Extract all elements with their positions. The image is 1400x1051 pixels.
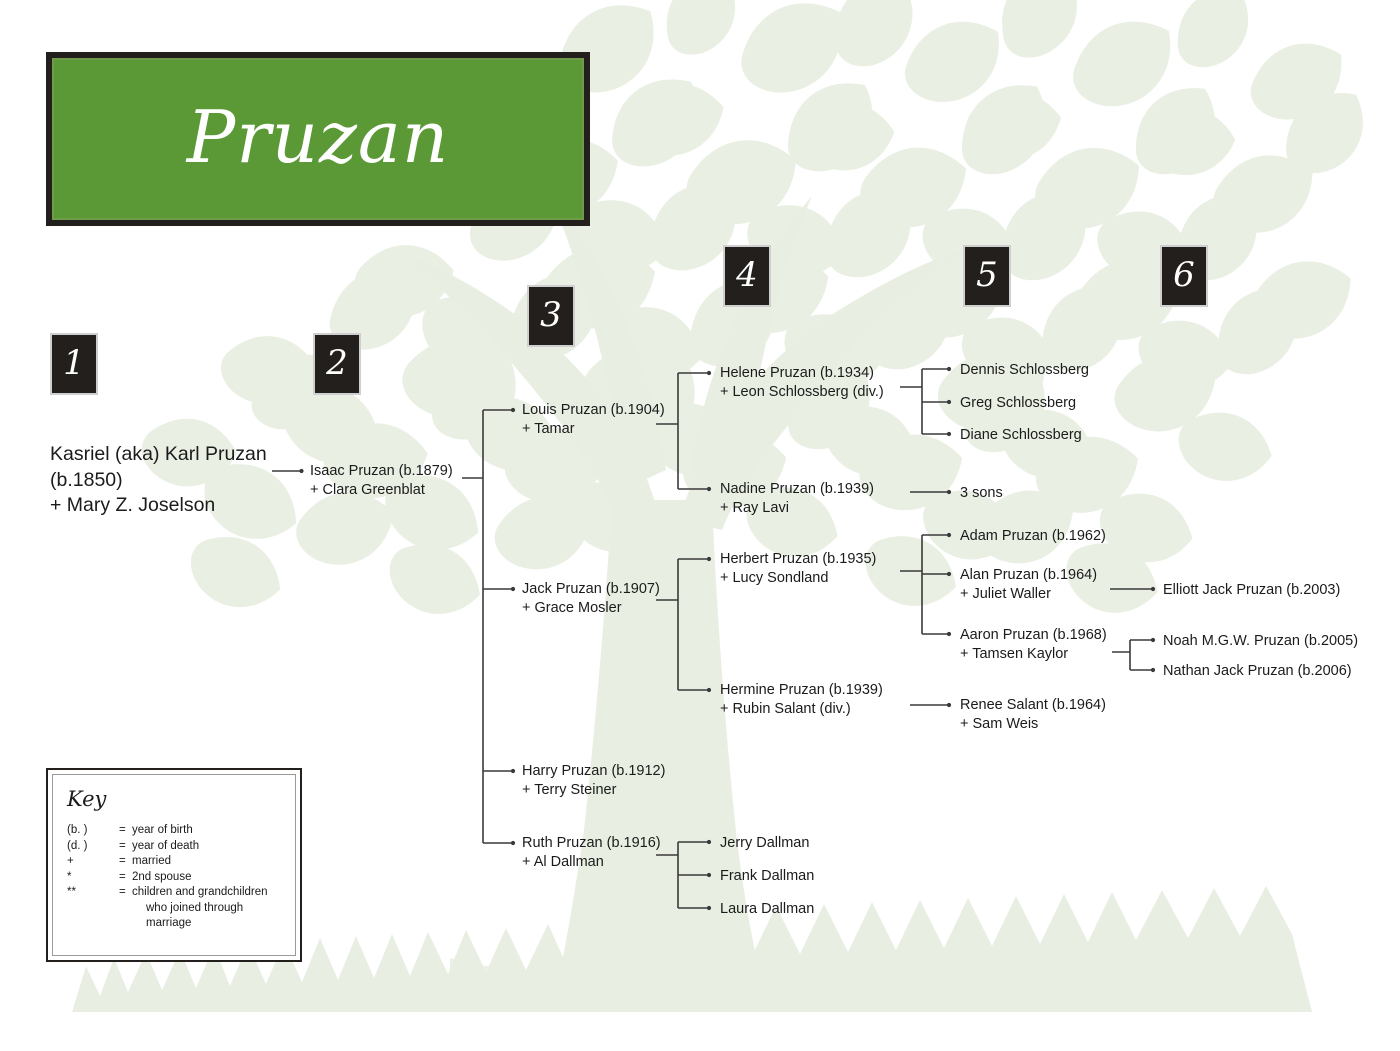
title-banner: Pruzan [46, 52, 590, 226]
person-name: Helene Pruzan (b.1934) [720, 364, 884, 383]
key-row-birth: (b. ) = year of birth [67, 823, 281, 839]
person-node-nadine-pruzan[interactable]: Nadine Pruzan (b.1939) + Ray Lavi [720, 480, 874, 518]
key-row-married-in: ** = children and grandchildren who join… [67, 885, 281, 932]
key-definition: year of birth [132, 823, 281, 839]
key-equals: = [119, 870, 132, 886]
generation-badge-4-label: 4 [736, 258, 758, 292]
person-name: Noah M.G.W. Pruzan (b.2005) [1163, 632, 1358, 651]
person-name: Laura Dallman [720, 900, 814, 919]
key-equals: = [119, 885, 132, 932]
person-node-ruth-pruzan[interactable]: Ruth Pruzan (b.1916) + Al Dallman [522, 834, 661, 872]
person-spouse: + Sam Weis [960, 715, 1106, 734]
key-equals: = [119, 839, 132, 855]
generation-badge-6-label: 6 [1173, 258, 1195, 292]
person-node-herbert-pruzan[interactable]: Herbert Pruzan (b.1935) + Lucy Sondland [720, 550, 876, 588]
key-legend-inner: Key (b. ) = year of birth (d. ) = year o… [52, 774, 296, 956]
person-name: Nathan Jack Pruzan (b.2006) [1163, 662, 1352, 681]
generation-badge-3: 3 [527, 285, 575, 347]
person-spouse: + Mary Z. Joselson [50, 493, 267, 519]
person-spouse: + Al Dallman [522, 853, 661, 872]
generation-badge-2: 2 [313, 333, 361, 395]
generation-badge-5-label: 5 [976, 258, 998, 292]
person-node-adam-pruzan[interactable]: Adam Pruzan (b.1962) [960, 527, 1106, 546]
person-spouse: + Terry Steiner [522, 781, 665, 800]
person-name: Hermine Pruzan (b.1939) [720, 681, 883, 700]
key-row-second-spouse: * = 2nd spouse [67, 870, 281, 886]
person-spouse: + Lucy Sondland [720, 569, 876, 588]
person-name: Isaac Pruzan (b.1879) [310, 462, 453, 481]
person-name: Alan Pruzan (b.1964) [960, 566, 1097, 585]
person-name: Dennis Schlossberg [960, 361, 1089, 380]
generation-badge-6: 6 [1160, 245, 1208, 307]
person-node-dennis-schlossberg[interactable]: Dennis Schlossberg [960, 361, 1089, 380]
person-name: 3 sons [960, 484, 1003, 503]
person-node-nathan-jack-pruzan[interactable]: Nathan Jack Pruzan (b.2006) [1163, 662, 1352, 681]
key-equals: = [119, 823, 132, 839]
person-node-diane-schlossberg[interactable]: Diane Schlossberg [960, 426, 1082, 445]
person-node-aaron-pruzan[interactable]: Aaron Pruzan (b.1968) + Tamsen Kaylor [960, 626, 1107, 664]
person-node-jerry-dallman[interactable]: Jerry Dallman [720, 834, 809, 853]
generation-badge-4: 4 [723, 245, 771, 307]
person-spouse: + Leon Schlossberg (div.) [720, 383, 884, 402]
person-name: Diane Schlossberg [960, 426, 1082, 445]
person-spouse: + Tamar [522, 420, 665, 439]
person-spouse: + Rubin Salant (div.) [720, 700, 883, 719]
person-name: Aaron Pruzan (b.1968) [960, 626, 1107, 645]
generation-badge-2-label: 2 [326, 346, 348, 380]
key-symbol: * [67, 870, 119, 886]
person-spouse: + Clara Greenblat [310, 481, 453, 500]
key-definition-continued: who joined through marriage [132, 901, 281, 932]
person-name: Ruth Pruzan (b.1916) [522, 834, 661, 853]
family-tree-poster: Pruzan 1 2 3 4 5 6 Kasriel (aka) Karl Pr… [0, 0, 1400, 1051]
key-equals: = [119, 854, 132, 870]
person-node-kasriel-pruzan[interactable]: Kasriel (aka) Karl Pruzan (b.1850) + Mar… [50, 442, 267, 519]
person-node-jack-pruzan[interactable]: Jack Pruzan (b.1907) + Grace Mosler [522, 580, 660, 618]
key-definition: married [132, 854, 281, 870]
key-row-married: + = married [67, 854, 281, 870]
key-title: Key [67, 787, 281, 811]
key-symbol: (b. ) [67, 823, 119, 839]
generation-badge-3-label: 3 [540, 298, 562, 332]
key-symbol: (d. ) [67, 839, 119, 855]
key-definition: 2nd spouse [132, 870, 281, 886]
person-node-three-sons[interactable]: 3 sons [960, 484, 1003, 503]
person-name: Jerry Dallman [720, 834, 809, 853]
person-name: Herbert Pruzan (b.1935) [720, 550, 876, 569]
page-title: Pruzan [187, 95, 449, 179]
key-definition: year of death [132, 839, 281, 855]
person-name: Jack Pruzan (b.1907) [522, 580, 660, 599]
person-node-elliott-jack-pruzan[interactable]: Elliott Jack Pruzan (b.2003) [1163, 581, 1340, 600]
key-legend-box: Key (b. ) = year of birth (d. ) = year o… [46, 768, 302, 962]
person-name: Greg Schlossberg [960, 394, 1076, 413]
key-symbol: ** [67, 885, 119, 932]
key-definition: children and grandchildren [132, 886, 268, 898]
person-node-helene-pruzan[interactable]: Helene Pruzan (b.1934) + Leon Schlossber… [720, 364, 884, 402]
person-node-isaac-pruzan[interactable]: Isaac Pruzan (b.1879) + Clara Greenblat [310, 462, 453, 500]
generation-badge-1-label: 1 [63, 346, 85, 380]
key-symbol: + [67, 854, 119, 870]
person-node-louis-pruzan[interactable]: Louis Pruzan (b.1904) + Tamar [522, 401, 665, 439]
title-banner-inner: Pruzan [52, 58, 584, 220]
person-node-harry-pruzan[interactable]: Harry Pruzan (b.1912) + Terry Steiner [522, 762, 665, 800]
generation-badge-5: 5 [963, 245, 1011, 307]
person-node-renee-salant[interactable]: Renee Salant (b.1964) + Sam Weis [960, 696, 1106, 734]
person-node-greg-schlossberg[interactable]: Greg Schlossberg [960, 394, 1076, 413]
person-name: Kasriel (aka) Karl Pruzan [50, 442, 267, 468]
person-birth: (b.1850) [50, 468, 267, 494]
person-spouse: + Ray Lavi [720, 499, 874, 518]
person-node-alan-pruzan[interactable]: Alan Pruzan (b.1964) + Juliet Waller [960, 566, 1097, 604]
person-name: Harry Pruzan (b.1912) [522, 762, 665, 781]
person-node-laura-dallman[interactable]: Laura Dallman [720, 900, 814, 919]
person-name: Adam Pruzan (b.1962) [960, 527, 1106, 546]
generation-badge-1: 1 [50, 333, 98, 395]
person-spouse: + Grace Mosler [522, 599, 660, 618]
person-spouse: + Tamsen Kaylor [960, 645, 1107, 664]
person-spouse: + Juliet Waller [960, 585, 1097, 604]
person-node-frank-dallman[interactable]: Frank Dallman [720, 867, 814, 886]
key-row-death: (d. ) = year of death [67, 839, 281, 855]
person-name: Renee Salant (b.1964) [960, 696, 1106, 715]
person-name: Elliott Jack Pruzan (b.2003) [1163, 581, 1340, 600]
person-node-noah-pruzan[interactable]: Noah M.G.W. Pruzan (b.2005) [1163, 632, 1358, 651]
person-name: Frank Dallman [720, 867, 814, 886]
person-name: Louis Pruzan (b.1904) [522, 401, 665, 420]
person-name: Nadine Pruzan (b.1939) [720, 480, 874, 499]
person-node-hermine-pruzan[interactable]: Hermine Pruzan (b.1939) + Rubin Salant (… [720, 681, 883, 719]
